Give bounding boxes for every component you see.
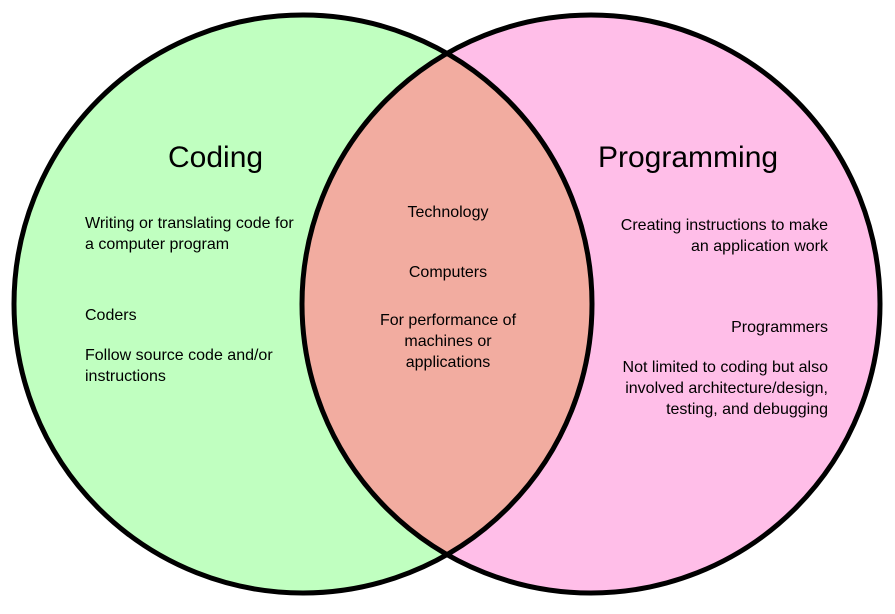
right-set-role: Programmers [618,317,828,338]
venn-text-layer: Coding Writing or translating code for a… [0,0,895,614]
left-set-detail: Follow source code and/or instructions [85,345,300,387]
intersection-item-computers: Computers [368,262,528,283]
right-set-detail: Not limited to coding but also involved … [600,357,828,420]
intersection-item-technology: Technology [368,202,528,223]
left-set-description: Writing or translating code for a comput… [85,213,295,255]
left-set-role: Coders [85,305,295,326]
left-set-heading: Coding [168,141,263,175]
right-set-heading: Programming [598,141,778,175]
intersection-item-performance: For performance of machines or applicati… [368,310,528,373]
right-set-description: Creating instructions to make an applica… [618,215,828,257]
venn-diagram: Coding Writing or translating code for a… [0,0,895,614]
